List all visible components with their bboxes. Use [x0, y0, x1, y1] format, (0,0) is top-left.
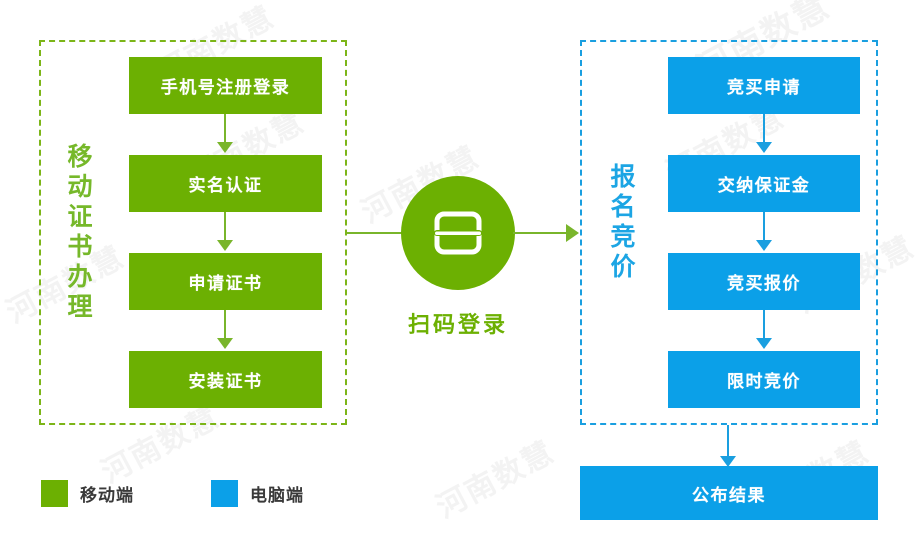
right-step-4-label: 限时竞价: [727, 367, 801, 392]
left-step-4-label: 安装证书: [189, 367, 263, 392]
left-arrowhead-3: [217, 338, 233, 349]
legend-item-mobile: 移动端: [41, 480, 134, 507]
bridge-line-left: [347, 232, 403, 234]
legend-swatch-pc-icon: [211, 480, 238, 507]
right-arrowhead-3: [756, 338, 772, 349]
left-arrowhead-1: [217, 142, 233, 153]
watermark: 河南数慧: [427, 428, 561, 527]
right-arrowhead-1: [756, 142, 772, 153]
left-step-2-label: 实名认证: [189, 171, 263, 196]
right-step-2-label: 交纳保证金: [718, 171, 811, 196]
right-step-3-label: 竞买报价: [727, 269, 801, 294]
left-step-1-label: 手机号注册登录: [161, 73, 291, 98]
right-step-4[interactable]: 限时竞价: [668, 351, 860, 408]
left-group-label: 移动证书办理: [64, 143, 91, 323]
left-connector-3: [224, 310, 226, 340]
legend-item-pc: 电脑端: [211, 480, 304, 507]
result-box[interactable]: 公布结果: [580, 466, 878, 520]
right-step-1[interactable]: 竞买申请: [668, 57, 860, 114]
right-connector-1: [763, 114, 765, 144]
left-step-2[interactable]: 实名认证: [129, 155, 322, 212]
result-connector: [727, 425, 729, 458]
right-connector-2: [763, 212, 765, 242]
left-connector-1: [224, 114, 226, 144]
flow-diagram-canvas: 河南数慧 河南数慧 河南数慧 河南数慧 河南数慧 河南数慧 河南数慧 河南数慧 …: [0, 0, 917, 560]
legend-label-pc: 电脑端: [250, 481, 304, 506]
legend-swatch-mobile-icon: [41, 480, 68, 507]
legend-label-mobile: 移动端: [80, 481, 134, 506]
left-step-3-label: 申请证书: [189, 269, 263, 294]
right-step-2[interactable]: 交纳保证金: [668, 155, 860, 212]
left-arrowhead-2: [217, 240, 233, 251]
right-step-1-label: 竞买申请: [727, 73, 801, 98]
right-arrowhead-2: [756, 240, 772, 251]
bridge-line-right: [513, 232, 567, 234]
right-connector-3: [763, 310, 765, 340]
bridge-arrowhead: [566, 224, 579, 242]
right-group-label: 报名竞价: [607, 163, 634, 283]
left-step-1[interactable]: 手机号注册登录: [129, 57, 322, 114]
right-step-3[interactable]: 竞买报价: [668, 253, 860, 310]
result-label: 公布结果: [692, 481, 766, 506]
left-step-3[interactable]: 申请证书: [129, 253, 322, 310]
scan-qr-icon: [432, 207, 484, 259]
scan-login-circle[interactable]: [401, 176, 515, 290]
scan-login-caption: 扫码登录: [392, 307, 524, 339]
left-connector-2: [224, 212, 226, 242]
left-step-4[interactable]: 安装证书: [129, 351, 322, 408]
